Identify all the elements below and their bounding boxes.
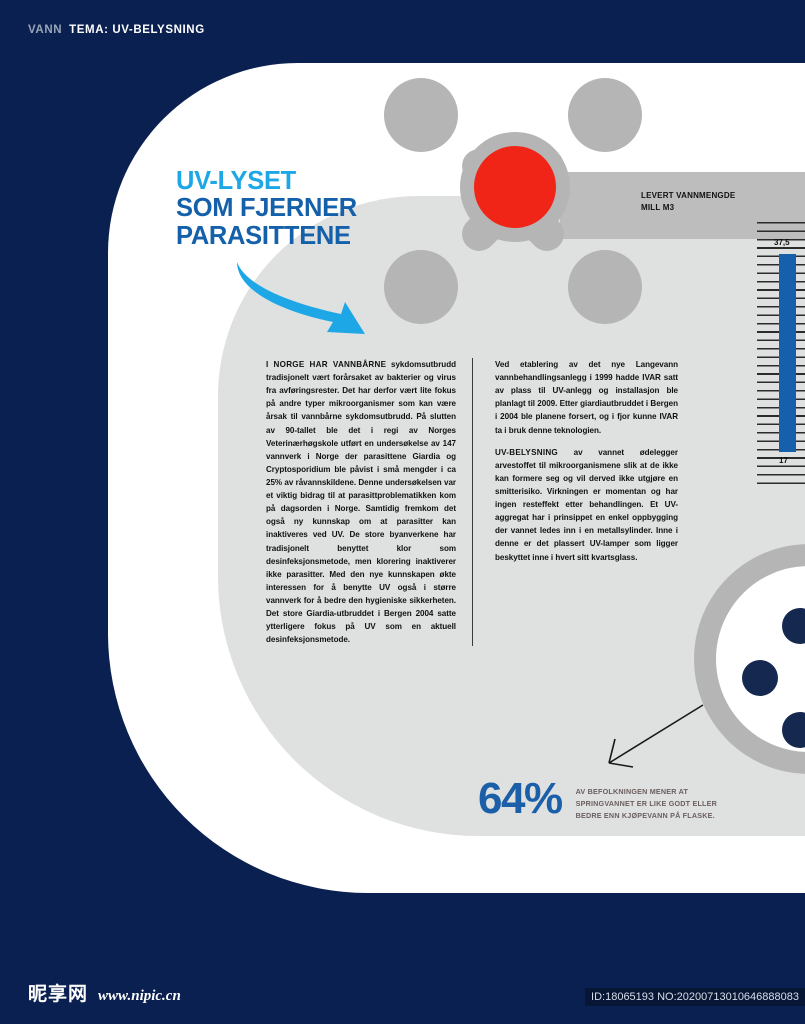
headline-line-2: SOM FJERNER — [176, 195, 357, 222]
right-column-lead: UV-BELYSNING — [495, 448, 558, 457]
headline-line-3: PARASITTENE — [176, 223, 357, 250]
left-column-lead: I NORGE HAR VANNBÅRNE — [266, 360, 386, 369]
shower-hole-icon — [782, 608, 805, 644]
pointer-arrow-icon — [595, 695, 755, 775]
left-column-body: sykdomsutbrudd tradisjonelt vært forårsa… — [266, 360, 456, 644]
infographic-page: VANNTEMA: UV-BELYSNING LEVERT VANNMENGDE… — [0, 0, 805, 1024]
right-column-paragraph-2: UV-BELYSNING av vannet ødelegger arvesto… — [495, 446, 678, 564]
page-title: UV-LYSET SOM FJERNER PARASITTENE — [176, 168, 357, 250]
article-right-column: Ved etablering av det nye Langevann vann… — [472, 358, 678, 646]
gauge-bottom-value: 17 — [779, 456, 788, 465]
left-column-paragraph: I NORGE HAR VANNBÅRNE sykdomsutbrudd tra… — [266, 358, 456, 646]
right-column-body: av vannet ødelegger arvestoffet til mikr… — [495, 448, 678, 562]
cyan-curved-arrow-icon — [215, 258, 375, 348]
molecule-node — [568, 250, 642, 324]
gauge-top-value: 37,5 — [774, 238, 790, 247]
right-column-paragraph-1: Ved etablering av det nye Langevann vann… — [495, 358, 678, 437]
article-left-column: I NORGE HAR VANNBÅRNE sykdomsutbrudd tra… — [266, 358, 472, 646]
statistic-value: 64% — [478, 778, 562, 820]
gauge-caption-line2: MILL M3 — [641, 202, 735, 214]
gauge-fill-bar — [779, 254, 796, 452]
molecule-node — [568, 78, 642, 152]
gauge-caption: LEVERT VANNMENGDE MILL M3 — [641, 190, 735, 214]
running-head-section: VANN — [28, 24, 62, 36]
shower-hole-icon — [782, 712, 805, 748]
volume-gauge: 37,5 17 — [757, 222, 805, 484]
running-head: VANNTEMA: UV-BELYSNING — [28, 24, 205, 36]
statistic-block: 64% AV BEFOLKNINGEN MENER AT SPRINGVANNE… — [478, 778, 726, 822]
statistic-description: AV BEFOLKNINGEN MENER AT SPRINGVANNET ER… — [576, 786, 726, 822]
watermark-footer: 昵享网 www.nipic.cn ID:18065193 NO:20200713… — [0, 960, 805, 1024]
molecule-core-red — [474, 146, 556, 228]
watermark-logo: 昵享网 www.nipic.cn — [28, 979, 181, 1006]
watermark-site-url: www.nipic.cn — [98, 988, 181, 1005]
watermark-site-name: 昵享网 — [28, 979, 88, 1006]
molecule-graphic — [378, 70, 648, 330]
article-columns: I NORGE HAR VANNBÅRNE sykdomsutbrudd tra… — [266, 358, 678, 646]
running-head-topic: TEMA: UV-BELYSNING — [69, 24, 205, 36]
molecule-node — [384, 78, 458, 152]
molecule-node — [384, 250, 458, 324]
headline-line-1: UV-LYSET — [176, 168, 357, 195]
gauge-caption-line1: LEVERT VANNMENGDE — [641, 190, 735, 202]
watermark-id-badge: ID:18065193 NO:20200713010646888083 — [585, 988, 805, 1006]
gauge-top-cap — [757, 180, 805, 224]
shower-hole-icon — [742, 660, 778, 696]
